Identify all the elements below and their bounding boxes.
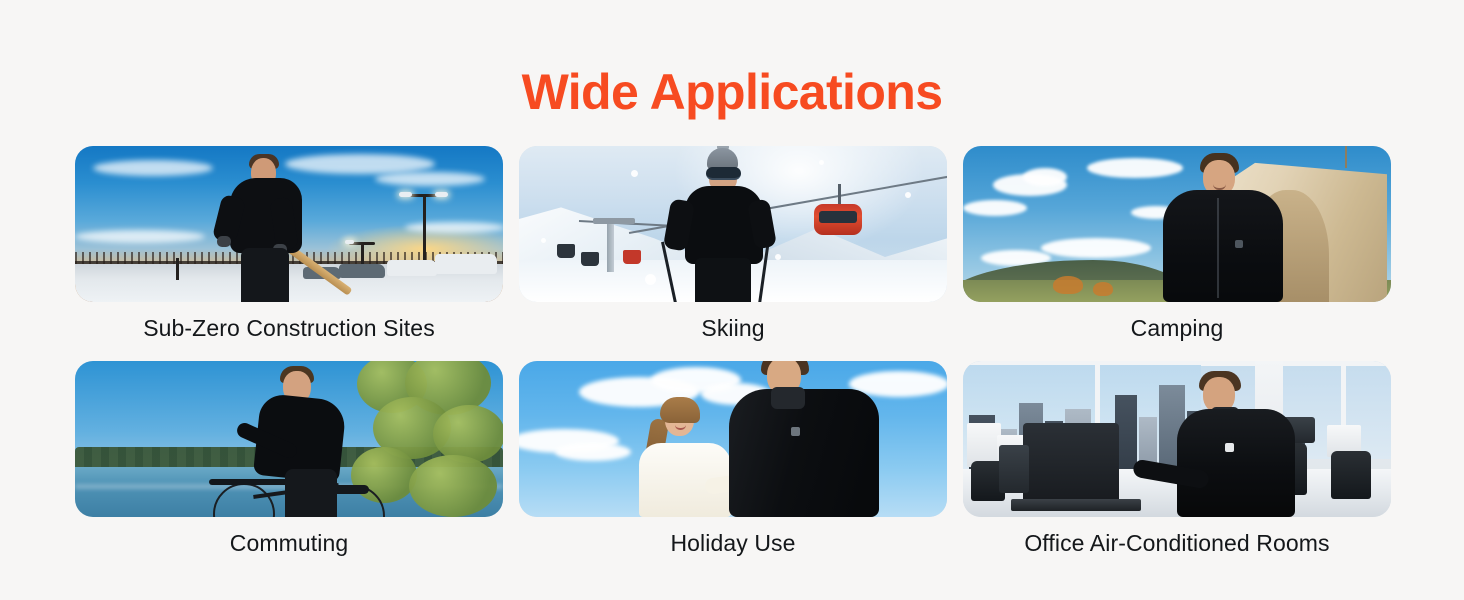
application-card-skiing[interactable]: Skiing	[519, 146, 947, 354]
card-caption: Skiing	[519, 302, 947, 354]
autumn-shrub	[1093, 282, 1113, 296]
black-jacket	[729, 389, 879, 517]
street-lamp-head	[435, 192, 448, 197]
primary-monitor	[1023, 423, 1119, 507]
card-caption: Holiday Use	[519, 517, 947, 569]
lift-tower	[607, 220, 614, 272]
card-caption: Camping	[963, 302, 1391, 354]
page-title: Wide Applications	[0, 62, 1464, 122]
cloud	[1041, 238, 1151, 258]
parked-car	[339, 264, 385, 278]
street-lamp-head	[345, 240, 354, 244]
chairlift-seat	[623, 250, 641, 264]
tree-foliage	[433, 405, 503, 463]
scene-camping-tent	[963, 146, 1391, 302]
card-caption: Sub-Zero Construction Sites	[75, 302, 503, 354]
scene-snow-shoveling-sunset	[75, 146, 503, 302]
snowflake	[905, 192, 911, 198]
ski-pants	[695, 258, 751, 302]
application-card-holiday-use[interactable]: Holiday Use	[519, 361, 947, 569]
cloud	[963, 200, 1027, 216]
card-image-holiday-use[interactable]	[519, 361, 947, 517]
tent-pole	[1345, 146, 1348, 168]
person-shoveling-snow	[215, 152, 315, 302]
card-caption: Office Air-Conditioned Rooms	[963, 517, 1391, 569]
cloud	[93, 160, 213, 176]
hair	[660, 397, 700, 423]
card-image-office-air-conditioned-rooms[interactable]	[963, 361, 1391, 517]
card-caption: Commuting	[75, 517, 503, 569]
application-card-camping[interactable]: Camping	[963, 146, 1391, 354]
black-jacket	[1177, 409, 1295, 517]
lift-tower-crossarm	[593, 218, 635, 224]
scene-cycling-lakeside	[75, 361, 503, 517]
black-fleece-jacket	[1163, 190, 1283, 302]
street-lamp-pole	[176, 258, 179, 280]
jacket-collar	[771, 387, 805, 409]
applications-grid: Sub-Zero Construction Sites	[75, 146, 1391, 569]
glove	[217, 236, 231, 247]
snowflake	[631, 170, 638, 177]
gondola-hanger	[838, 184, 841, 206]
jacket-logo	[791, 427, 800, 436]
black-pants	[285, 469, 337, 517]
jacket-zipper	[1217, 198, 1219, 298]
person-cycling	[243, 361, 383, 517]
street-lamp-head	[399, 192, 412, 197]
scene-office-skyline	[963, 361, 1391, 517]
person-skiing	[669, 146, 779, 302]
secondary-monitor	[999, 445, 1029, 493]
card-image-commuting[interactable]	[75, 361, 503, 517]
cloud	[1023, 168, 1067, 186]
card-image-camping[interactable]	[963, 146, 1391, 302]
gondola-window	[819, 211, 857, 223]
grey-beanie	[707, 148, 738, 169]
office-chair	[1331, 451, 1371, 499]
scene-ski-slope-gondola	[519, 146, 947, 302]
scene-couple-blue-sky	[519, 361, 947, 517]
autumn-shrub	[1053, 276, 1083, 294]
application-card-commuting[interactable]: Commuting	[75, 361, 503, 569]
snowflake	[645, 274, 656, 285]
application-card-sub-zero-construction-sites[interactable]: Sub-Zero Construction Sites	[75, 146, 503, 354]
chairlift-seat	[557, 244, 575, 258]
legs	[241, 248, 289, 302]
red-gondola-cabin	[814, 204, 862, 235]
application-card-office-air-conditioned-rooms[interactable]: Office Air-Conditioned Rooms	[963, 361, 1391, 569]
cloud	[555, 443, 631, 461]
man-in-black-jacket	[719, 361, 899, 517]
person-camping	[1159, 146, 1289, 302]
snowflake	[819, 160, 824, 165]
tree-foliage	[409, 455, 497, 517]
keyboard	[1011, 499, 1141, 511]
cloud	[405, 222, 503, 233]
cloud	[75, 230, 205, 243]
parked-car	[387, 260, 437, 276]
card-image-skiing[interactable]	[519, 146, 947, 302]
wide-applications-section: Wide Applications	[0, 0, 1464, 600]
jacket-logo	[1225, 443, 1234, 452]
parked-car	[435, 254, 497, 274]
card-image-sub-zero-construction-sites[interactable]	[75, 146, 503, 302]
cloud	[375, 172, 485, 186]
window-mullion	[1201, 361, 1391, 366]
jacket-logo	[1235, 240, 1243, 248]
chairlift-seat	[581, 252, 599, 266]
person-working-at-computer	[1159, 369, 1309, 517]
ski-goggles	[706, 167, 741, 180]
snowflake	[541, 238, 546, 243]
